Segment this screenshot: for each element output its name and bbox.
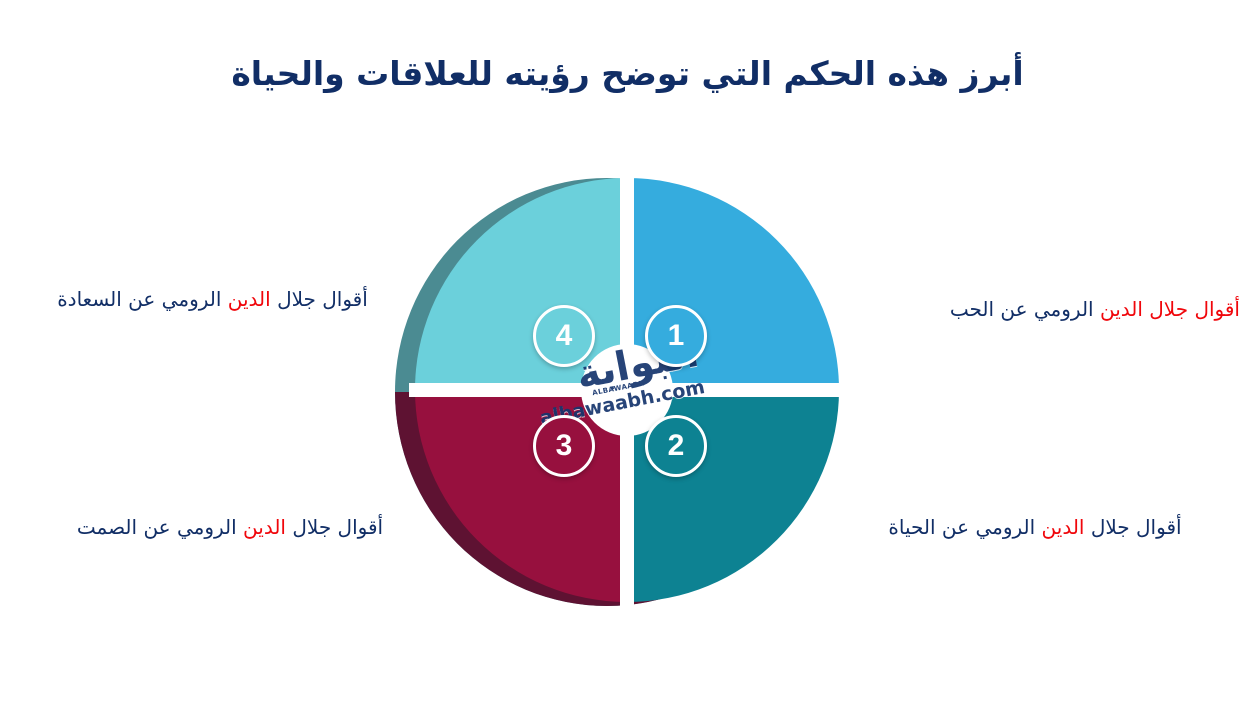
segment-label-4-rest: الرومي عن السعادة bbox=[57, 287, 228, 311]
pie-chart-wheel: البوابة ALBAWAABH albawaabh.com bbox=[395, 178, 847, 606]
segment-label-2-highlight: الدين bbox=[1042, 515, 1085, 539]
segment-label-4: أقوال جلال الدين الرومي عن السعادة bbox=[20, 284, 405, 315]
segment-badge-3-number: 3 bbox=[556, 431, 573, 461]
segment-label-1-rest: الرومي عن الحب bbox=[950, 297, 1100, 321]
pie-chart-svg bbox=[395, 178, 847, 606]
segment-label-3: أقوال جلال الدين الرومي عن الصمت bbox=[35, 512, 425, 543]
segment-badge-1-number: 1 bbox=[668, 321, 685, 351]
segment-label-2: أقوال جلال الدين الرومي عن الحياة bbox=[835, 512, 1235, 543]
segment-label-4-start: أقوال جلال bbox=[271, 287, 368, 311]
segment-label-3-rest: الرومي عن الصمت bbox=[77, 515, 243, 539]
segment-badge-2-number: 2 bbox=[668, 431, 685, 461]
segment-badge-2[interactable]: 2 bbox=[645, 415, 707, 477]
segment-label-3-highlight: الدين bbox=[243, 515, 286, 539]
segment-badge-1[interactable]: 1 bbox=[645, 305, 707, 367]
segment-label-4-highlight: الدين bbox=[228, 287, 271, 311]
segment-label-2-start: أقوال جلال bbox=[1084, 515, 1181, 539]
segment-badge-4-number: 4 bbox=[556, 321, 573, 351]
segment-badge-4[interactable]: 4 bbox=[533, 305, 595, 367]
segment-badge-3[interactable]: 3 bbox=[533, 415, 595, 477]
segment-label-3-start: أقوال جلال bbox=[286, 515, 383, 539]
pie-chart: البوابة ALBAWAABH albawaabh.com 1 2 3 4 … bbox=[0, 0, 1255, 701]
segment-label-1-highlight: أقوال جلال الدين bbox=[1100, 297, 1240, 321]
segment-label-2-rest: الرومي عن الحياة bbox=[888, 515, 1041, 539]
segment-label-1: أقوال جلال الدين الرومي عن الحب bbox=[860, 294, 1240, 325]
